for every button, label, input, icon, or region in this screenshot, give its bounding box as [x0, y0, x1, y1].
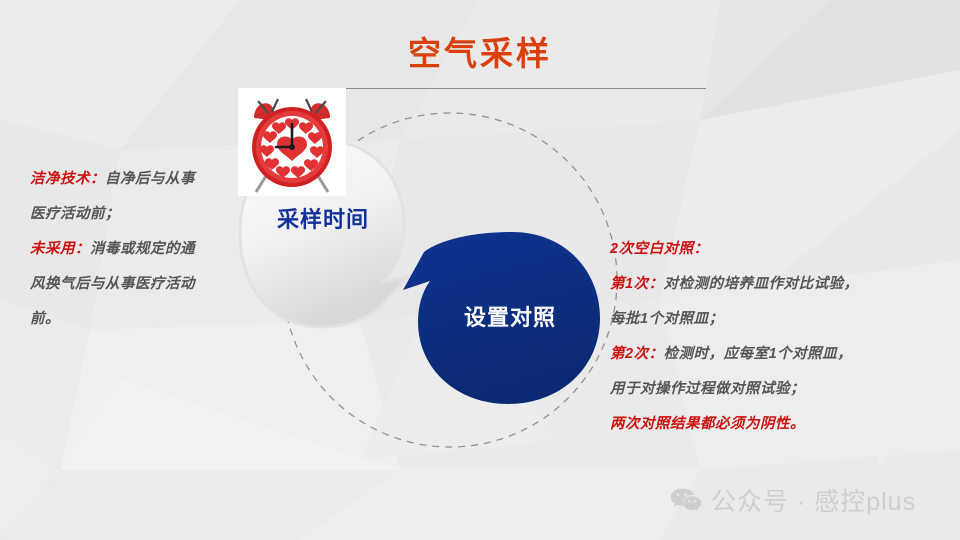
text-line: 洁净技术：自净后与从事	[30, 162, 248, 197]
text-body: 检测时，应每室1个对照皿，	[664, 346, 853, 362]
text-line: 用于对操作过程做对照试验；	[610, 372, 940, 407]
text-block-left: 洁净技术：自净后与从事 医疗活动前； 未采用：消毒或规定的通 风换气后与从事医疗…	[30, 162, 248, 337]
text-body: 每批1个对照皿；	[610, 311, 724, 327]
text-body: 风换气后与从事医疗活动	[30, 276, 195, 292]
text-body: 用于对操作过程做对照试验；	[610, 381, 805, 397]
text-body: 对检测的培养皿作对比试验，	[664, 276, 859, 292]
text-line: 风换气后与从事医疗活动	[30, 267, 248, 302]
text-line: 每批1个对照皿；	[610, 302, 940, 337]
text-keyword: 洁净技术：	[30, 171, 105, 187]
text-line: 第1次：对检测的培养皿作对比试验，	[610, 267, 940, 302]
text-line: 未采用：消毒或规定的通	[30, 232, 248, 267]
wechat-icon	[670, 487, 702, 513]
label-set-control: 设置对照	[440, 300, 580, 332]
text-body: 消毒或规定的通	[90, 241, 195, 257]
text-body: 前。	[30, 311, 60, 327]
text-line: 2次空白对照：	[610, 232, 940, 267]
text-body: 医疗活动前；	[30, 206, 120, 222]
text-block-right: 2次空白对照： 第1次：对检测的培养皿作对比试验， 每批1个对照皿； 第2次：检…	[610, 232, 940, 442]
footer-text: 公众号 · 感控plus	[711, 482, 916, 518]
text-keyword: 第2次：	[610, 346, 664, 362]
text-keyword: 2次空白对照：	[610, 241, 709, 257]
text-keyword: 两次对照结果都必须为阴性。	[610, 416, 805, 432]
alarm-clock-icon	[238, 88, 346, 196]
footer-watermark: 公众号 · 感控plus	[670, 482, 916, 518]
slide-canvas: 空气采样	[0, 0, 960, 540]
text-line: 医疗活动前；	[30, 197, 248, 232]
text-line: 两次对照结果都必须为阴性。	[610, 407, 940, 442]
label-sampling-time: 采样时间	[258, 202, 388, 234]
text-line: 前。	[30, 302, 248, 337]
text-keyword: 未采用：	[30, 241, 90, 257]
text-body: 自净后与从事	[105, 171, 195, 187]
text-keyword: 第1次：	[610, 276, 664, 292]
text-line: 第2次：检测时，应每室1个对照皿，	[610, 337, 940, 372]
